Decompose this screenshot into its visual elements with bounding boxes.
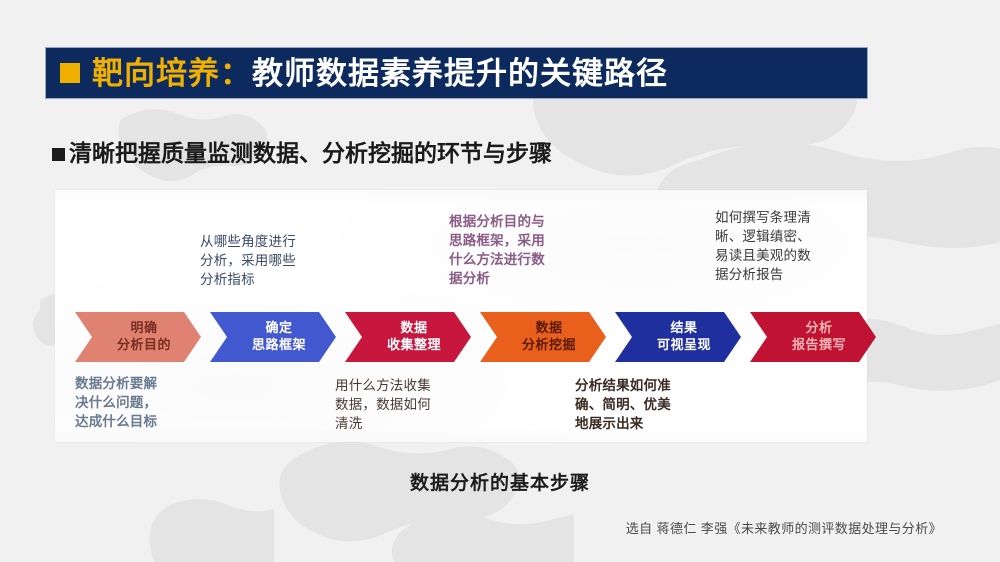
page-title: 靶向培养：教师数据素养提升的关键路径 [92, 58, 668, 89]
process-step-label: 明确 分析目的 [105, 320, 171, 353]
process-step-5: 结果 可视呈现 [615, 312, 741, 362]
square-bullet-icon [52, 148, 65, 161]
process-step-2: 确定 思路框架 [210, 312, 336, 362]
figure-caption: 数据分析的基本步骤 [0, 468, 1000, 495]
annotations-bottom-3: 分析结果如何准 确、简明、优美 地展示出来 [575, 376, 671, 433]
process-step-label: 数据 收集整理 [375, 320, 441, 353]
process-step-1: 明确 分析目的 [75, 312, 201, 362]
annotations-top-1: 从哪些角度进行 分析，采用哪些 分析指标 [200, 232, 296, 289]
process-step-3: 数据 收集整理 [345, 312, 471, 362]
annotations-bottom-1: 数据分析要解 决什么问题， 达成什么目标 [75, 374, 157, 431]
annotations-top-3: 如何撰写条理清 晰、逻辑缜密、 易读且美观的数 据分析报告 [715, 208, 811, 285]
process-step-4: 数据 分析挖掘 [480, 312, 606, 362]
process-step-label: 分析 报告撰写 [780, 320, 846, 353]
source-credit: 选自 蒋德仁 李强《未来教师的测评数据处理与分析》 [626, 518, 942, 537]
process-chevron-row: 明确 分析目的确定 思路框架数据 收集整理数据 分析挖掘结果 可视呈现分析 报告… [55, 312, 867, 362]
annotations-top-2: 根据分析目的与 思路框架，采用 什么方法进行数 据分析 [449, 212, 545, 289]
page-title-plain: 教师数据素养提升的关键路径 [252, 56, 668, 91]
figure-panel: 从哪些角度进行 分析，采用哪些 分析指标根据分析目的与 思路框架，采用 什么方法… [55, 190, 867, 442]
process-step-6: 分析 报告撰写 [750, 312, 876, 362]
slide-subtitle-label: 清晰把握质量监测数据、分析挖掘的环节与步骤 [69, 142, 552, 165]
slide-title-bar: 靶向培养：教师数据素养提升的关键路径 [45, 47, 868, 99]
annotations-bottom-2: 用什么方法收集 数据，数据如何 清洗 [335, 376, 431, 433]
process-step-label: 确定 思路框架 [240, 320, 306, 353]
slide-subtitle: 清晰把握质量监测数据、分析挖掘的环节与步骤 [52, 142, 552, 165]
square-bullet-icon [60, 63, 80, 83]
process-step-label: 数据 分析挖掘 [510, 320, 576, 353]
page-title-accent: 靶向培养： [92, 56, 252, 91]
process-step-label: 结果 可视呈现 [645, 320, 711, 353]
